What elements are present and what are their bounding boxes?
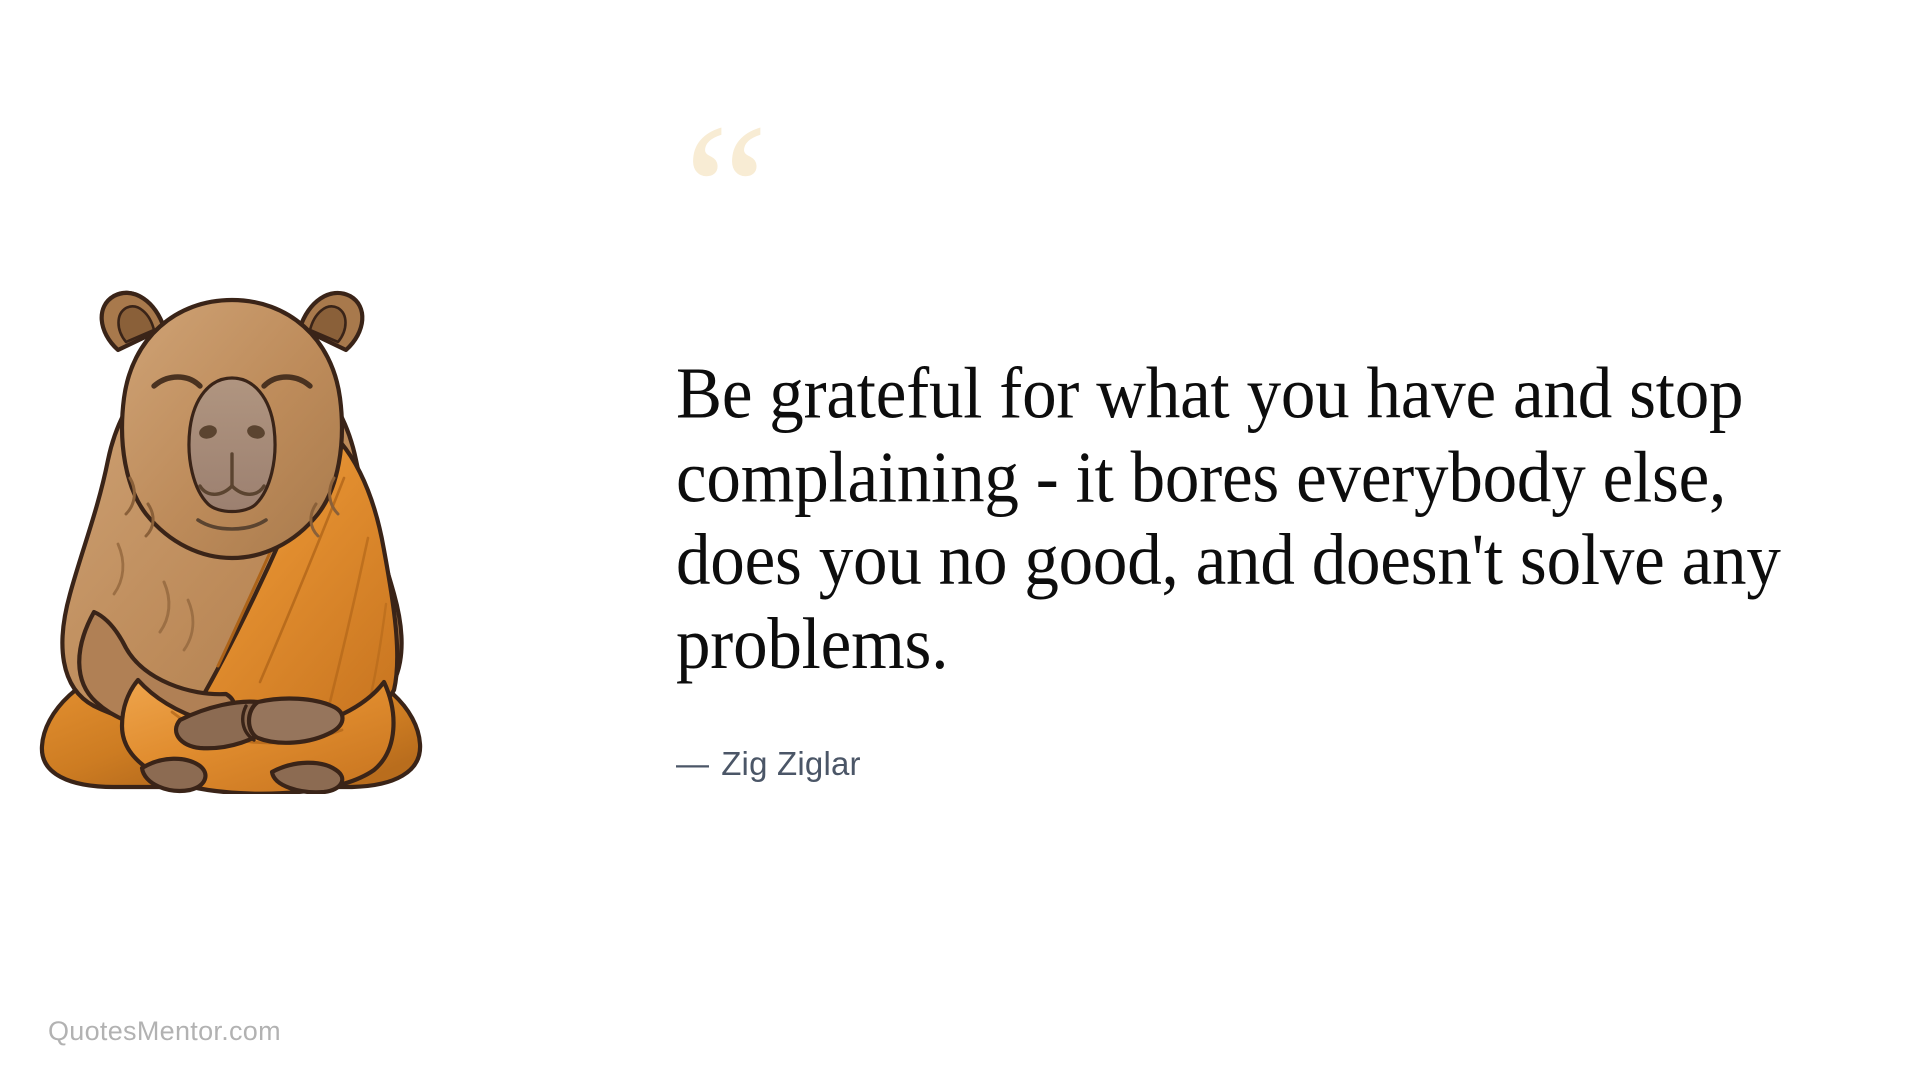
decorative-quote-mark-icon: “ bbox=[684, 96, 804, 226]
site-watermark: QuotesMentor.com bbox=[48, 1016, 281, 1047]
illustration-panel bbox=[0, 0, 620, 1080]
attribution-dash: — bbox=[676, 745, 709, 782]
capybara-monk-illustration bbox=[22, 282, 442, 794]
quote-attribution: —Zig Ziglar bbox=[676, 745, 861, 783]
quote-card: “ Be grateful for what you have and stop… bbox=[0, 0, 1920, 1080]
quote-text: Be grateful for what you have and stop c… bbox=[676, 352, 1826, 686]
quote-block: “ Be grateful for what you have and stop… bbox=[676, 0, 1856, 1080]
quote-author: Zig Ziglar bbox=[721, 745, 861, 782]
